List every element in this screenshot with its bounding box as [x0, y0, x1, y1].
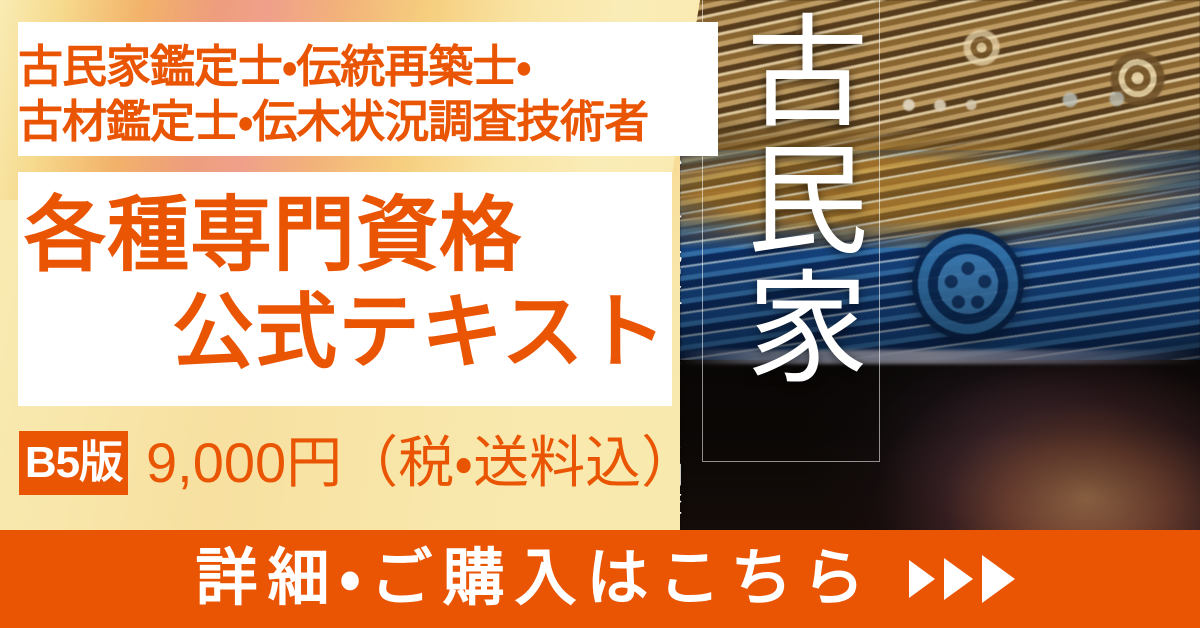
cover-title: 古民家	[718, 8, 868, 392]
cta-bar[interactable]: 詳細・ご購入はこちら	[0, 530, 1200, 628]
format-badge: B5版	[19, 431, 128, 495]
subtitle-line-2: 古材鑑定士・伝木状況調査技術者	[18, 99, 648, 144]
book-cover-image: 伝統構法 古民家活用のための調査と再生の 古民家	[680, 0, 1200, 566]
cover-subtitle-line-2: 古民家活用のための調査と再生の	[680, 210, 681, 566]
subtitle-line-1: 古民家鑑定士・伝統再築士・	[18, 44, 531, 89]
triangle-right-icon	[909, 560, 935, 598]
triangle-right-icon	[982, 555, 1015, 603]
headline-line-2: 公式テキスト	[172, 292, 668, 374]
cta-arrow-group	[909, 555, 1015, 603]
promo-banner: 伝統構法 古民家活用のための調査と再生の 古民家 古民家鑑定士・伝統再築士・ 古…	[0, 0, 1200, 628]
headline-line-1: 各種専門資格	[24, 195, 522, 277]
cta-label: 詳細・ご購入はこちら	[185, 548, 874, 610]
price-text: 9,000円（税・送料込）	[146, 432, 697, 494]
triangle-right-icon	[944, 558, 973, 600]
